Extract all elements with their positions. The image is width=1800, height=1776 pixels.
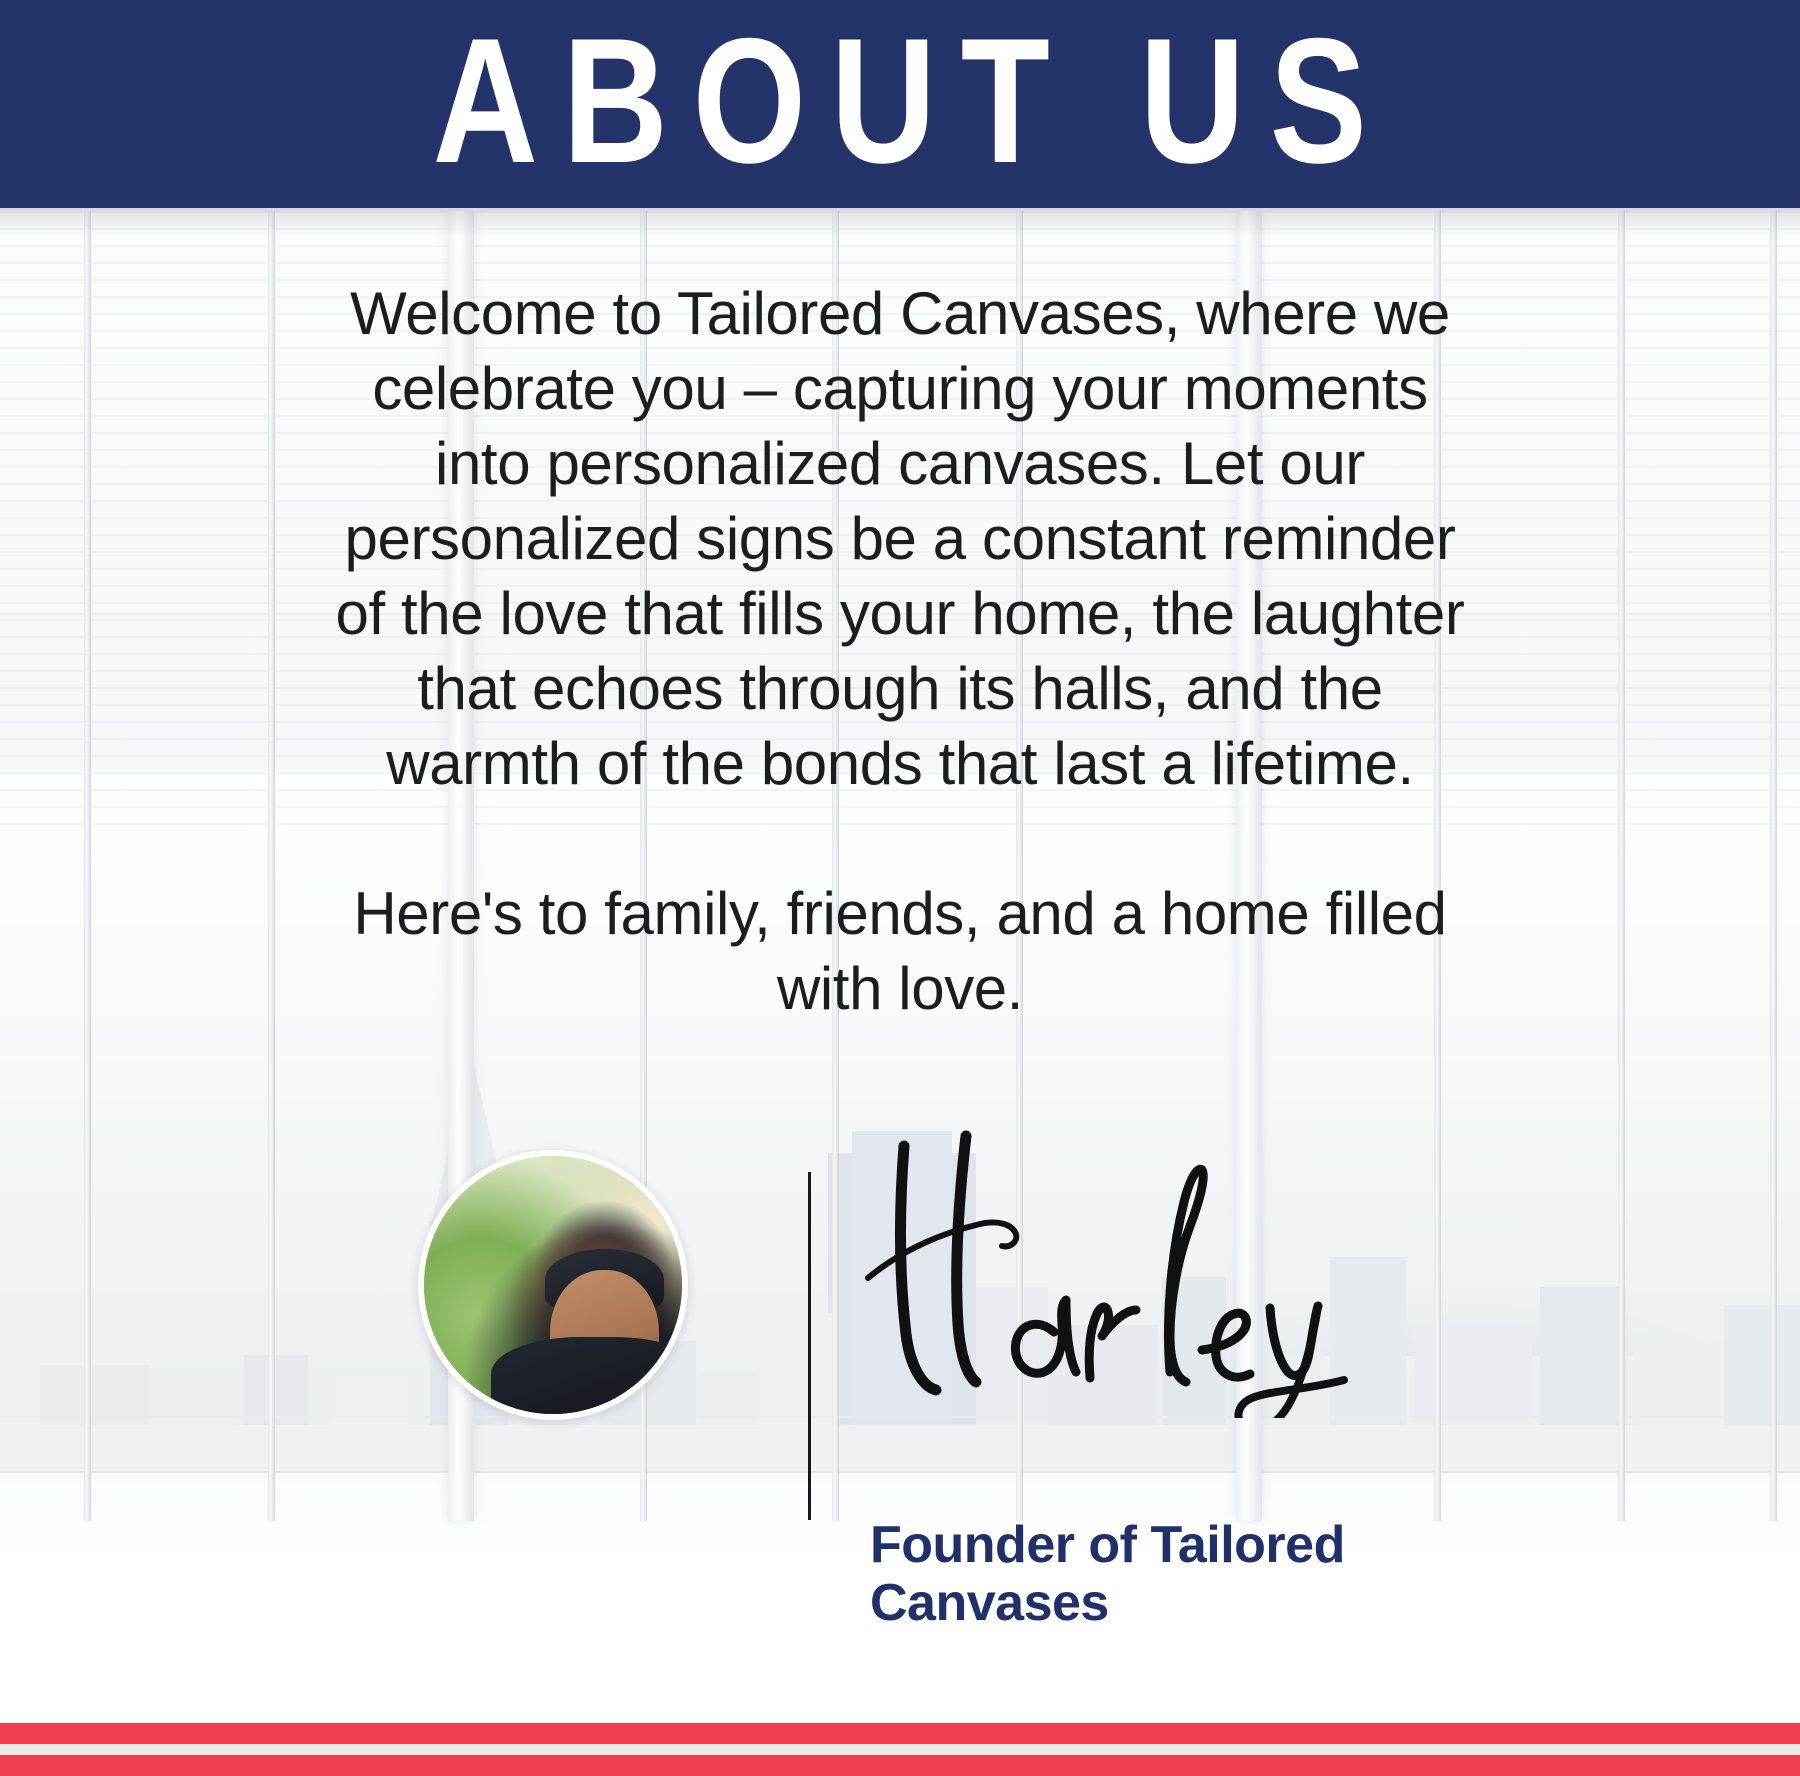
header-dropshadow bbox=[0, 211, 1800, 237]
signature-harley bbox=[840, 1128, 1480, 1418]
copy-line: Welcome to Tailored Canvases, where we bbox=[235, 276, 1565, 351]
copy-line: that echoes through its halls, and the bbox=[235, 651, 1565, 726]
signature-role-line-2: Canvases bbox=[870, 1574, 1510, 1632]
avatar-photo bbox=[424, 1156, 682, 1414]
signature-divider bbox=[808, 1172, 811, 1520]
copy-line: of the love that fills your home, the la… bbox=[235, 576, 1565, 651]
signature-role: Founder of Tailored Canvases bbox=[870, 1516, 1510, 1632]
about-us-poster: ABOUT US bbox=[0, 0, 1800, 1776]
footer-accent-bar-top bbox=[0, 1723, 1800, 1744]
page-title: ABOUT US bbox=[408, 16, 1392, 185]
about-body-copy: Welcome to Tailored Canvases, where we c… bbox=[235, 276, 1565, 1026]
copy-line: with love. bbox=[235, 951, 1565, 1026]
copy-line: into personalized canvases. Let our bbox=[235, 426, 1565, 501]
avatar bbox=[418, 1150, 688, 1420]
signature-role-line-1: Founder of Tailored bbox=[870, 1516, 1510, 1574]
copy-line: Here's to family, friends, and a home fi… bbox=[235, 876, 1565, 951]
copy-line: celebrate you – capturing your moments bbox=[235, 351, 1565, 426]
header-underline bbox=[0, 208, 1800, 211]
footer-accent-bar-bottom bbox=[0, 1755, 1800, 1776]
paragraph-spacer bbox=[235, 801, 1565, 876]
copy-line: warmth of the bonds that last a lifetime… bbox=[235, 726, 1565, 801]
copy-line: personalized signs be a constant reminde… bbox=[235, 501, 1565, 576]
avatar-torso bbox=[491, 1337, 688, 1420]
header-band: ABOUT US bbox=[0, 0, 1800, 208]
